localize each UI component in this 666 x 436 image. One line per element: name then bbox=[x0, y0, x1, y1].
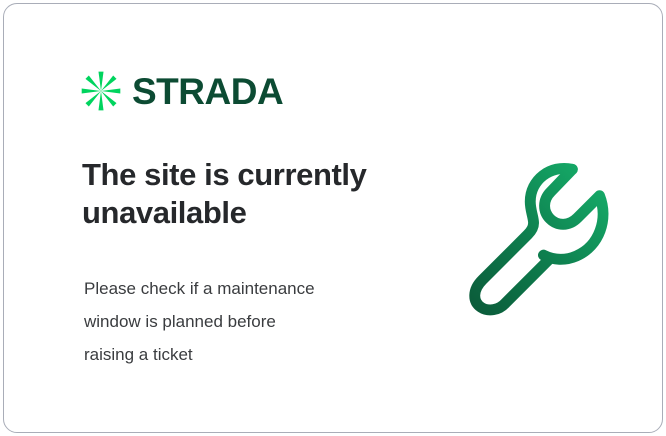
brand-logo: STRADA bbox=[80, 70, 283, 112]
description-line: Please check if a maintenance bbox=[84, 272, 404, 305]
brand-wordmark: STRADA bbox=[132, 73, 283, 110]
page-title: The site is currently unavailable bbox=[82, 156, 422, 233]
error-page: STRADA The site is currently unavailable… bbox=[0, 0, 666, 436]
description-line: window is planned before bbox=[84, 305, 404, 338]
status-card: STRADA The site is currently unavailable… bbox=[3, 3, 663, 433]
description-line: raising a ticket bbox=[84, 338, 404, 371]
asterisk-starburst-icon bbox=[80, 70, 122, 112]
wrench-icon bbox=[456, 152, 621, 317]
page-description: Please check if a maintenance window is … bbox=[84, 272, 404, 371]
